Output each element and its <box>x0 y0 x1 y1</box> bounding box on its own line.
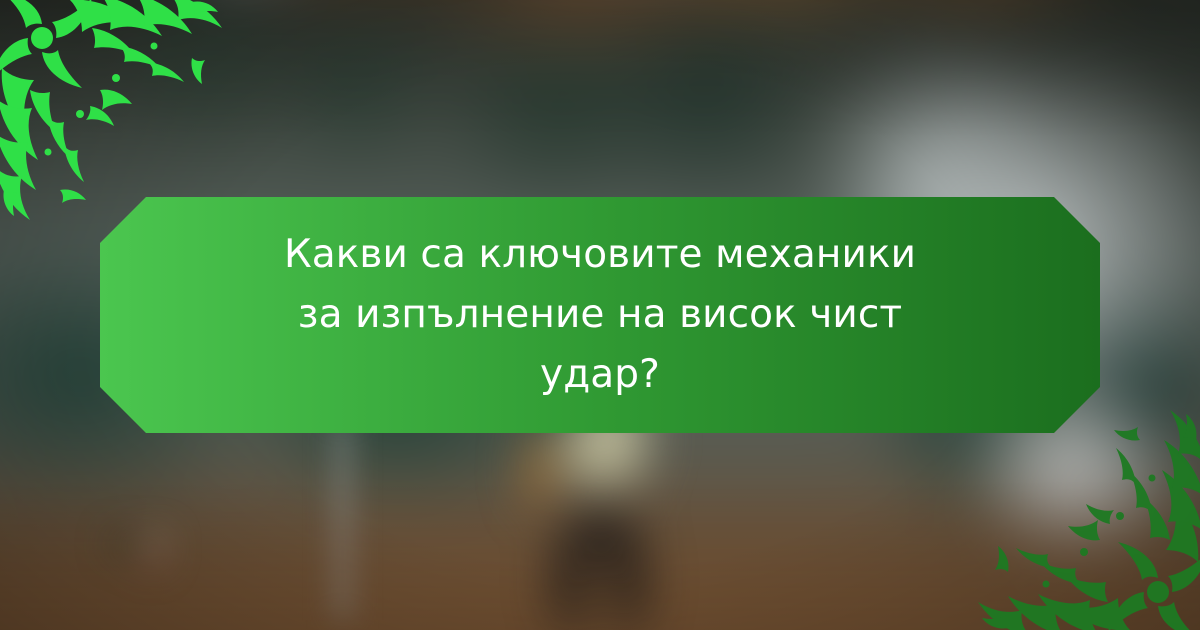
question-banner: Какви са ключовите механики за изпълнени… <box>100 197 1100 433</box>
question-text: Какви са ключовите механики за изпълнени… <box>280 225 920 405</box>
question-card: Какви са ключовите механики за изпълнени… <box>0 0 1200 630</box>
